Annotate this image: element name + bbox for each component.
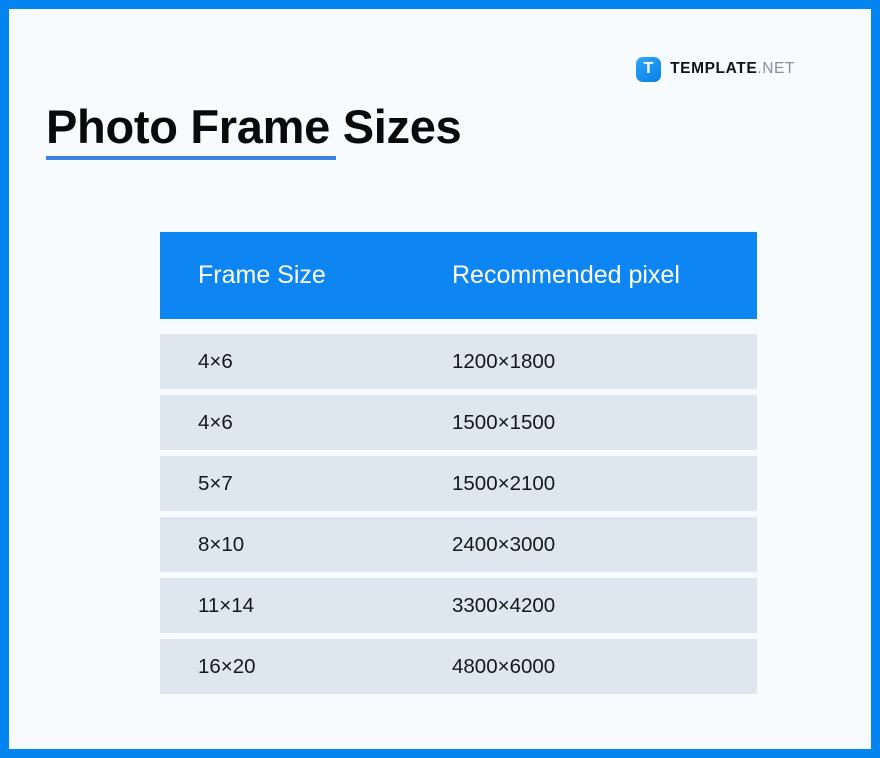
cell-frame-size: 8×10 — [160, 533, 452, 557]
infographic-page: T TEMPLATE.NET Photo Frame Sizes Frame S… — [0, 0, 880, 758]
brand-wordmark: TEMPLATE.NET — [670, 60, 795, 78]
cell-recommended-pixel: 1200×1800 — [452, 350, 757, 374]
cell-frame-size: 16×20 — [160, 655, 452, 679]
cell-recommended-pixel: 2400×3000 — [452, 533, 757, 557]
cell-recommended-pixel: 3300×4200 — [452, 594, 757, 618]
brand-tld: .NET — [757, 60, 795, 77]
cell-frame-size: 5×7 — [160, 472, 452, 496]
cell-frame-size: 4×6 — [160, 350, 452, 374]
column-header-frame-size: Frame Size — [160, 261, 452, 290]
table-row: 11×14 3300×4200 — [160, 578, 757, 633]
table-row: 4×6 1200×1800 — [160, 334, 757, 389]
template-net-logo-icon: T — [636, 57, 661, 82]
table-row: 5×7 1500×2100 — [160, 456, 757, 511]
cell-recommended-pixel: 4800×6000 — [452, 655, 757, 679]
table-header-row: Frame Size Recommended pixel — [160, 232, 757, 319]
cell-recommended-pixel: 1500×2100 — [452, 472, 757, 496]
frame-sizes-table: Frame Size Recommended pixel 4×6 1200×18… — [160, 232, 757, 700]
cell-frame-size: 4×6 — [160, 411, 452, 435]
page-title: Photo Frame Sizes — [46, 100, 461, 154]
cell-recommended-pixel: 1500×1500 — [452, 411, 757, 435]
table-row: 16×20 4800×6000 — [160, 639, 757, 694]
logo-letter: T — [643, 61, 653, 77]
column-header-recommended-pixel: Recommended pixel — [452, 261, 757, 290]
brand-name: TEMPLATE — [670, 60, 757, 77]
brand-logo: T TEMPLATE.NET — [636, 56, 795, 82]
table-row: 8×10 2400×3000 — [160, 517, 757, 572]
cell-frame-size: 11×14 — [160, 594, 452, 618]
table-row: 4×6 1500×1500 — [160, 395, 757, 450]
title-underline-rule — [46, 156, 336, 160]
